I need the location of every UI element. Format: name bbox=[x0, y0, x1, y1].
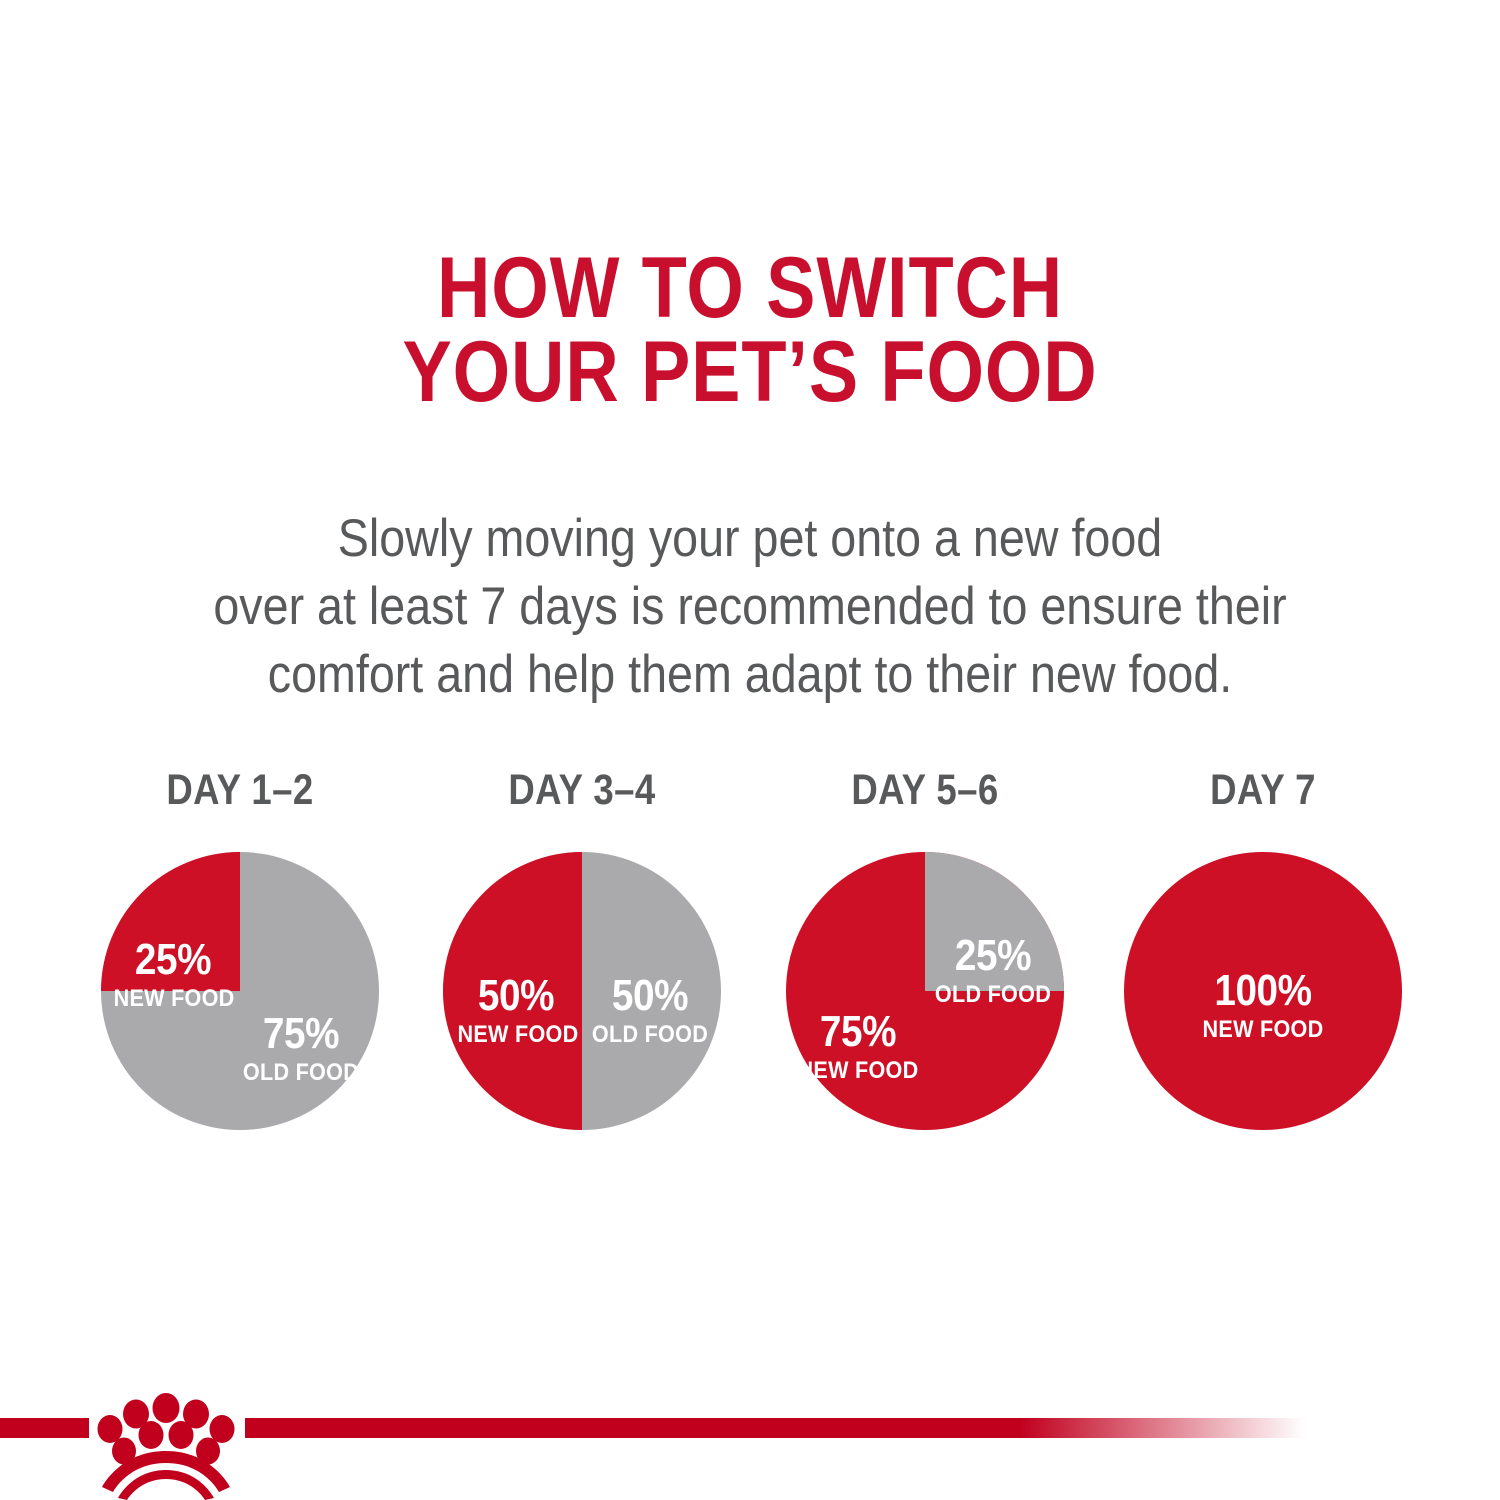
page-title-line-1: HOW TO SWITCH bbox=[105, 246, 1395, 330]
pie-slice-new-food bbox=[101, 852, 240, 991]
pie-chart-day-7: DAY 7 100% NEW FOOD bbox=[1113, 766, 1413, 1166]
pie-chart-day-5-6: DAY 5–6 25% OLD FOOD 75% NEW FOOD bbox=[775, 766, 1075, 1166]
intro-paragraph-line-3: comfort and help them adapt to their new… bbox=[90, 641, 1410, 709]
page-title: HOW TO SWITCH YOUR PET’S FOOD bbox=[105, 246, 1395, 415]
pie-slice-new-food bbox=[443, 852, 582, 1130]
footer-rule-right bbox=[245, 1418, 1320, 1438]
day-label-4: DAY 7 bbox=[1136, 766, 1391, 815]
crown-logo-svg bbox=[86, 1375, 246, 1500]
pie-svg-day-5-6 bbox=[786, 852, 1064, 1130]
pie-graphic-day-1-2: 25% NEW FOOD 75% OLD FOOD bbox=[101, 852, 379, 1130]
infographic-page: HOW TO SWITCH YOUR PET’S FOOD Slowly mov… bbox=[0, 0, 1500, 1500]
pie-graphic-day-7: 100% NEW FOOD bbox=[1124, 852, 1402, 1130]
day-label-1: DAY 1–2 bbox=[113, 766, 368, 815]
pie-graphic-day-5-6: 25% OLD FOOD 75% NEW FOOD bbox=[786, 852, 1064, 1130]
page-title-line-2: YOUR PET’S FOOD bbox=[105, 330, 1395, 414]
pie-svg-day-1-2 bbox=[101, 852, 379, 1130]
intro-paragraph-line-2: over at least 7 days is recommended to e… bbox=[90, 573, 1410, 641]
day-label-3: DAY 5–6 bbox=[798, 766, 1053, 815]
pie-graphic-day-3-4: 50% NEW FOOD 50% OLD FOOD bbox=[443, 852, 721, 1130]
footer-rule-left bbox=[0, 1418, 89, 1438]
pie-svg-day-3-4 bbox=[443, 852, 721, 1130]
pie-svg-day-7 bbox=[1124, 852, 1402, 1130]
day-label-2: DAY 3–4 bbox=[455, 766, 710, 815]
intro-paragraph: Slowly moving your pet onto a new food o… bbox=[90, 505, 1410, 708]
intro-paragraph-line-1: Slowly moving your pet onto a new food bbox=[90, 505, 1410, 573]
transition-schedule-chart-row: DAY 1–2 25% NEW FOOD 75% OLD FOOD DAY 3–… bbox=[0, 766, 1500, 1166]
footer-brand-bar bbox=[0, 1405, 1500, 1500]
pie-chart-day-3-4: DAY 3–4 50% NEW FOOD 50% OLD FOOD bbox=[432, 766, 732, 1166]
pie-slice-new-food bbox=[1124, 852, 1402, 1130]
royal-canin-crown-icon bbox=[86, 1375, 246, 1500]
pie-chart-day-1-2: DAY 1–2 25% NEW FOOD 75% OLD FOOD bbox=[90, 766, 390, 1166]
pie-slice-old-food bbox=[925, 852, 1064, 991]
